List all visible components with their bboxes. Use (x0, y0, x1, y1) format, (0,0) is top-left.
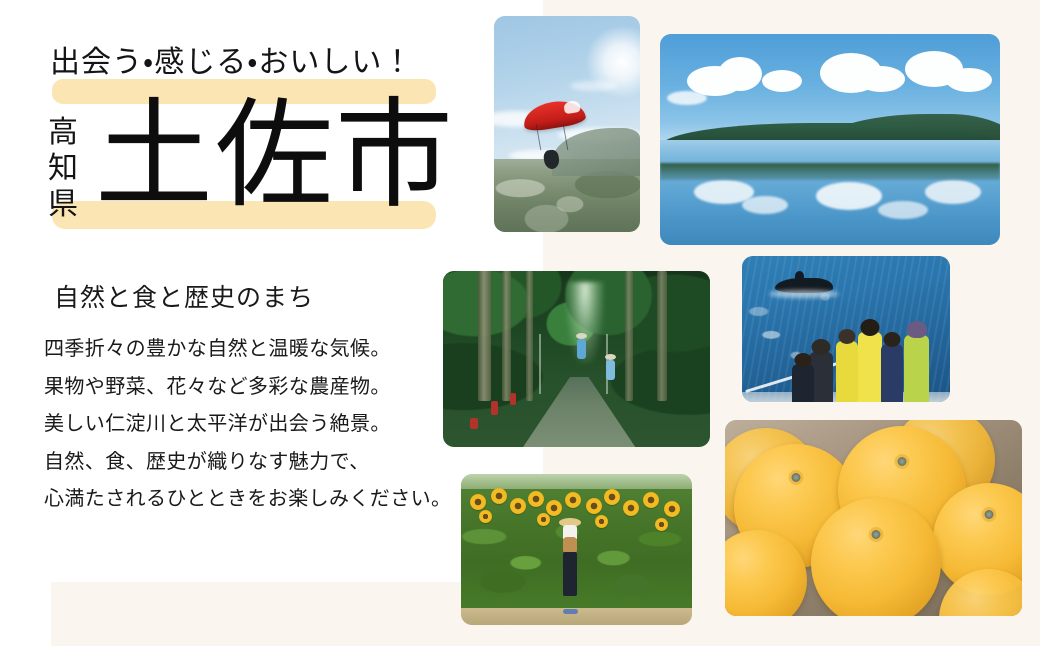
paraglider-lines (536, 124, 569, 150)
sunflower-bloom (623, 500, 639, 516)
cloud-shape (667, 91, 707, 105)
body-line-2: 果物や野菜、花々など多彩な農産物。 (44, 376, 464, 400)
cloud-shape (570, 81, 618, 91)
citrus-navel (897, 457, 906, 466)
body-line-3: 美しい仁淀川と太平洋が出会う絶景。 (44, 413, 464, 437)
prefecture-char-3: 県 (46, 187, 80, 223)
cloud-reflection (816, 182, 882, 210)
cloud-shape (946, 68, 992, 92)
tree-trunk (478, 271, 491, 401)
body-line-5: 心満たされるひとときをお楽しみください。 (44, 488, 464, 512)
bridge-walker (577, 339, 586, 359)
subheading: 自然と食と歴史のまち (54, 278, 314, 314)
passenger-hat (907, 321, 927, 338)
citrus-fruit (811, 498, 941, 616)
forest-bridge-photo (443, 271, 710, 447)
visitor-trousers (563, 552, 577, 596)
sunflower-bloom (470, 494, 486, 510)
passenger (836, 341, 858, 402)
cloud-shape (762, 70, 802, 92)
water-surface (660, 140, 1000, 246)
red-marker (510, 393, 516, 405)
passenger (792, 364, 814, 402)
poster-canvas: 出会う・感じる・おいしい！ 高 知 県 土佐市 自然と食と歴史のまち 四季折々の… (0, 0, 1040, 646)
whale-watching-photo (742, 256, 950, 402)
citrus-navel (984, 510, 993, 519)
visitor-figure (558, 518, 582, 612)
sunflower-bloom (528, 491, 544, 507)
passenger-head (838, 329, 855, 344)
cloud-shape (857, 66, 905, 92)
citrus-photo (725, 420, 1022, 616)
tagline: 出会う・感じる・おいしい！ (50, 48, 450, 78)
tree-trunk (502, 271, 511, 401)
city-name-title: 土佐市 (95, 98, 455, 216)
prefecture-char-2: 知 (46, 151, 80, 187)
passenger (881, 344, 903, 402)
passenger (858, 332, 882, 402)
cloud-shape (718, 57, 762, 91)
tree-trunk (657, 271, 667, 401)
sunflower-bloom (655, 518, 668, 531)
body-copy: 四季折々の豊かな自然と温暖な気候。 果物や野菜、花々など多彩な農産物。 美しい仁… (44, 338, 464, 526)
sunflower-bloom (510, 498, 526, 514)
sunflower-photo (461, 474, 692, 625)
tree-trunk (625, 271, 633, 401)
sunflower-bloom (565, 492, 581, 508)
red-marker (491, 401, 498, 415)
body-line-1: 四季折々の豊かな自然と温暖な気候。 (44, 338, 464, 362)
passenger-head (884, 332, 901, 347)
cloud-reflection (925, 180, 981, 204)
citrus-navel (791, 473, 800, 482)
tree-trunk (526, 271, 533, 401)
passenger-head (861, 319, 880, 336)
visitor-shoes (563, 609, 578, 614)
sunflower-bloom (491, 488, 507, 504)
cloud-reflection (742, 196, 788, 214)
prefecture-char-1: 高 (46, 115, 80, 151)
paraglider-photo (494, 16, 640, 232)
body-line-4: 自然、食、歴史が織りなす魅力で、 (44, 451, 464, 475)
whale-wake (769, 290, 839, 298)
passenger-head (811, 339, 830, 355)
red-marker (470, 418, 478, 429)
hill-reflection (660, 163, 1000, 180)
prefecture-vertical-label: 高 知 県 (46, 115, 80, 223)
sunflower-bloom (595, 515, 608, 528)
bridge-cable (539, 334, 541, 394)
sunflower-bloom (586, 498, 602, 514)
river-photo (660, 34, 1000, 245)
citrus-navel (872, 530, 881, 539)
passenger (904, 335, 929, 402)
bridge-walker (606, 360, 615, 380)
passenger-head (794, 353, 811, 367)
cloud-reflection (878, 201, 928, 219)
